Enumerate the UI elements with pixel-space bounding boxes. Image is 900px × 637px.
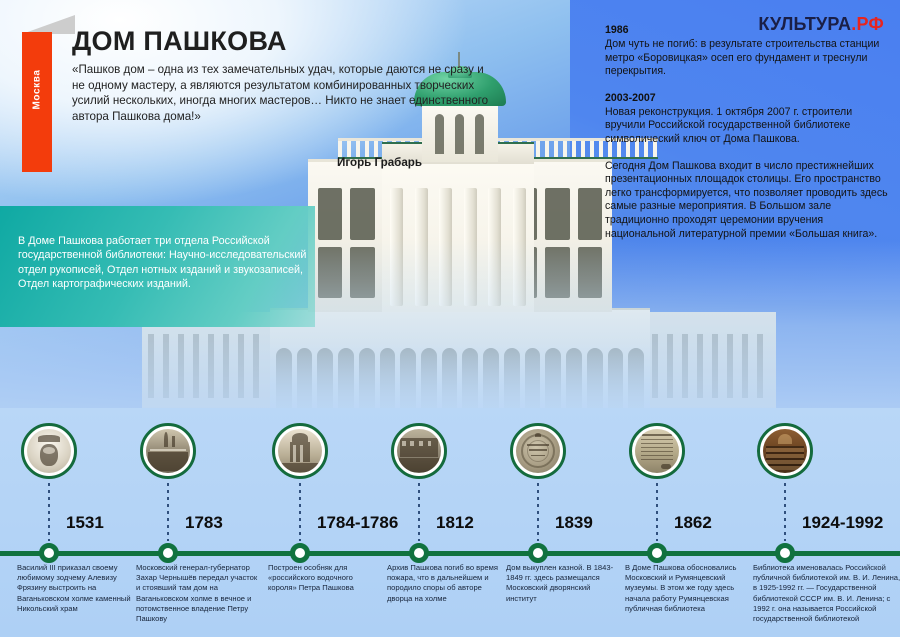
- city-ribbon: Москва: [22, 32, 52, 172]
- rotunda-engraving-image: [278, 429, 322, 473]
- ribbon-label: Москва: [32, 33, 43, 147]
- timeline-medallion-1924-1992[interactable]: [757, 423, 813, 479]
- timeline-year-label: 1784-1786: [317, 513, 398, 533]
- right-block: Сегодня Дом Пашкова входит в число прест…: [605, 160, 895, 242]
- departments-callout: В Доме Пашкова работает три отдела Росси…: [0, 206, 315, 327]
- right-block-year: 2003-2007: [605, 92, 895, 104]
- right-block-text: Дом чуть не погиб: в результате строител…: [605, 38, 895, 79]
- timeline-connector: [784, 483, 786, 541]
- page-title: ДОМ ПАШКОВА: [72, 26, 287, 57]
- timeline-year-label: 1783: [185, 513, 223, 533]
- timeline-connector: [48, 483, 50, 541]
- timeline-node[interactable]: [775, 543, 795, 563]
- old-moscow-engraving-image: [146, 429, 190, 473]
- timeline-connector: [167, 483, 169, 541]
- timeline-node[interactable]: [290, 543, 310, 563]
- silver-coin-image: [516, 429, 560, 473]
- timeline-event-description: Дом выкуплен казной. В 1843-1849 гг. зде…: [506, 563, 616, 604]
- timeline-connector: [418, 483, 420, 541]
- timeline-node[interactable]: [158, 543, 178, 563]
- timeline-medallion-1839[interactable]: [510, 423, 566, 479]
- timeline-node[interactable]: [409, 543, 429, 563]
- portrait-vasily-iii-image: [27, 429, 71, 473]
- right-block-text: Сегодня Дом Пашкова входит в число прест…: [605, 160, 895, 242]
- timeline-event-description: В Доме Пашкова обосновались Московский и…: [625, 563, 743, 614]
- timeline-axis: [0, 551, 900, 556]
- timeline-node[interactable]: [647, 543, 667, 563]
- timeline-year-label: 1924-1992: [802, 513, 883, 533]
- old-document-image: [635, 429, 679, 473]
- infographic-page: Москва ДОМ ПАШКОВА «Пашков дом – одна из…: [0, 0, 900, 637]
- right-text-column: 1986 Дом чуть не погиб: в результате стр…: [605, 24, 895, 254]
- timeline-event-description: Василий III приказал своему любимому зод…: [17, 563, 135, 614]
- timeline-medallion-1812[interactable]: [391, 423, 447, 479]
- timeline-year-label: 1862: [674, 513, 712, 533]
- fire-scene-photo-image: [397, 429, 441, 473]
- timeline-event-description: Построен особняк для «российского водочн…: [268, 563, 376, 594]
- timeline-node[interactable]: [528, 543, 548, 563]
- hero-quote: «Пашков дом – одна из тех замечательных …: [72, 62, 492, 124]
- timeline-event-description: Библиотека именовалась Российской публич…: [753, 563, 900, 624]
- right-block-year: 1986: [605, 24, 895, 36]
- quote-attribution: Игорь Грабарь: [72, 156, 422, 169]
- reading-hall-photo-image: [763, 429, 807, 473]
- timeline-medallion-1531[interactable]: [21, 423, 77, 479]
- timeline-event-description: Московский генерал-губернатор Захар Черн…: [136, 563, 258, 624]
- timeline-connector: [537, 483, 539, 541]
- right-block: 1986 Дом чуть не погиб: в результате стр…: [605, 24, 895, 79]
- timeline-node[interactable]: [39, 543, 59, 563]
- timeline-connector: [656, 483, 658, 541]
- timeline-connector: [299, 483, 301, 541]
- timeline-medallion-1784-1786[interactable]: [272, 423, 328, 479]
- timeline-year-label: 1812: [436, 513, 474, 533]
- right-block: 2003-2007 Новая реконструкция. 1 октября…: [605, 92, 895, 147]
- departments-text: В Доме Пашкова работает три отдела Росси…: [18, 234, 308, 292]
- timeline-year-label: 1531: [66, 513, 104, 533]
- timeline-year-label: 1839: [555, 513, 593, 533]
- right-block-text: Новая реконструкция. 1 октября 2007 г. с…: [605, 106, 895, 147]
- timeline-section: 1531Василий III приказал своему любимому…: [0, 408, 900, 637]
- timeline-medallion-1783[interactable]: [140, 423, 196, 479]
- timeline-medallion-1862[interactable]: [629, 423, 685, 479]
- timeline-event-description: Архив Пашкова погиб во время пожара, что…: [387, 563, 505, 604]
